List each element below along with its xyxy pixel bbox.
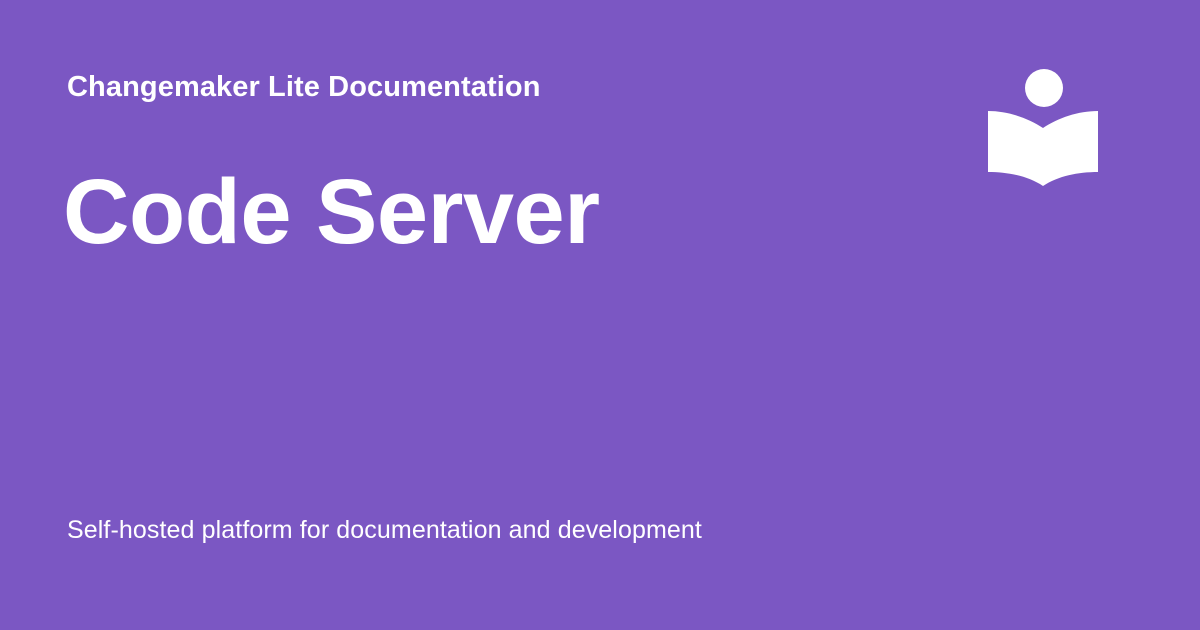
site-name: Changemaker Lite Documentation [67,68,541,106]
open-book-reader-icon [986,66,1100,188]
page-title: Code Server [63,160,600,264]
og-preview-card: Changemaker Lite Documentation Code Serv… [0,0,1200,630]
page-subtitle: Self-hosted platform for documentation a… [67,513,702,547]
